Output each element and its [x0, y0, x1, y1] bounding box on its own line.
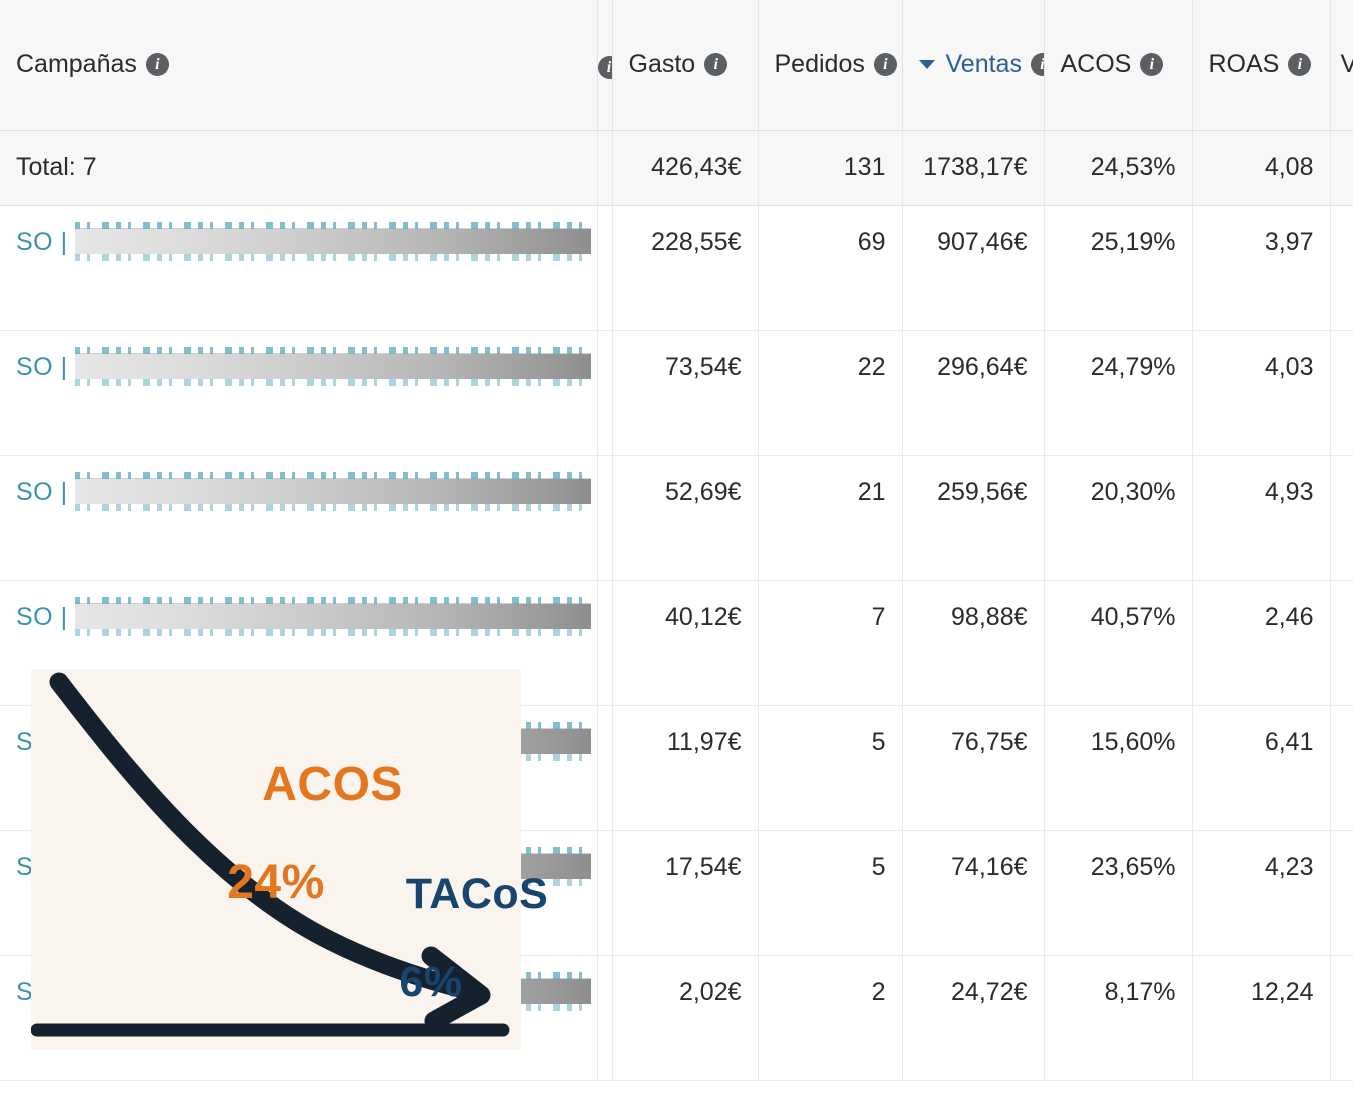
- campaign-name-cell[interactable]: SO |: [0, 330, 597, 455]
- cell-ventas: 76,75€: [902, 705, 1044, 830]
- cell-pedidos: 7: [758, 580, 902, 705]
- total-row-gasto: 426,43€: [612, 130, 758, 205]
- info-icon[interactable]: i: [1288, 53, 1311, 76]
- info-icon[interactable]: i: [598, 56, 613, 79]
- cell-gasto: 52,69€: [612, 455, 758, 580]
- cell-cutoff: [1330, 830, 1353, 955]
- campaign-prefix: SO |: [16, 480, 68, 505]
- sort-descending-caret-icon[interactable]: [919, 60, 935, 69]
- row-spacer: [597, 955, 612, 1080]
- info-icon[interactable]: i: [1031, 53, 1044, 76]
- tacos-annotation: TACoS 6%: [331, 829, 531, 1092]
- campaign-name-redacted-bar: [75, 478, 591, 504]
- total-row-roas: 4,08: [1192, 130, 1330, 205]
- campaign-name-redacted-bar: [75, 228, 591, 254]
- tacos-annotation-value: 6%: [331, 961, 531, 1005]
- cell-acos: 23,65%: [1044, 830, 1192, 955]
- cell-acos: 25,19%: [1044, 205, 1192, 330]
- cell-gasto: 17,54€: [612, 830, 758, 955]
- column-header-campanas-label: Campañas: [16, 52, 137, 77]
- campaign-prefix: SO |: [16, 230, 68, 255]
- total-row-acos: 24,53%: [1044, 130, 1192, 205]
- table-row[interactable]: SO | 228,55€ 69 907,46€ 25,19% 3,97: [0, 205, 1353, 330]
- column-header-gasto[interactable]: Gasto i: [612, 0, 758, 130]
- info-icon[interactable]: i: [146, 53, 169, 76]
- campaign-name-cell[interactable]: SO |: [0, 205, 597, 330]
- row-spacer: [597, 455, 612, 580]
- acos-annotation-title: ACOS: [262, 758, 403, 811]
- cell-gasto: 11,97€: [612, 705, 758, 830]
- column-header-spacer[interactable]: i: [597, 0, 612, 130]
- table-header: Campañas i i Gasto i Pedidos: [0, 0, 1353, 130]
- cell-acos: 20,30%: [1044, 455, 1192, 580]
- column-header-roas[interactable]: ROAS i: [1192, 0, 1330, 130]
- cell-pedidos: 22: [758, 330, 902, 455]
- cell-cutoff: [1330, 705, 1353, 830]
- cell-roas: 3,97: [1192, 205, 1330, 330]
- column-header-ventas-label: Ventas: [946, 52, 1022, 77]
- column-header-acos-label: ACOS: [1061, 52, 1132, 77]
- info-icon[interactable]: i: [874, 53, 897, 76]
- cell-acos: 8,17%: [1044, 955, 1192, 1080]
- cell-ventas: 296,64€: [902, 330, 1044, 455]
- header-row: Campañas i i Gasto i Pedidos: [0, 0, 1353, 130]
- column-header-cutoff-label: V: [1341, 50, 1353, 78]
- total-row-cutoff: [1330, 130, 1353, 205]
- column-header-pedidos[interactable]: Pedidos i: [758, 0, 902, 130]
- cell-cutoff: [1330, 580, 1353, 705]
- column-header-cutoff[interactable]: V: [1330, 0, 1353, 130]
- column-header-roas-label: ROAS: [1209, 52, 1280, 77]
- info-icon[interactable]: i: [704, 53, 727, 76]
- campaign-name-redacted-bar: [75, 353, 591, 379]
- info-icon[interactable]: i: [1140, 53, 1163, 76]
- campaign-prefix: SO |: [16, 355, 68, 380]
- total-row-ventas: 1738,17€: [902, 130, 1044, 205]
- tacos-annotation-title: TACoS: [406, 870, 549, 918]
- cell-acos: 40,57%: [1044, 580, 1192, 705]
- cell-pedidos: 69: [758, 205, 902, 330]
- cell-roas: 2,46: [1192, 580, 1330, 705]
- table-row[interactable]: SO | 73,54€ 22 296,64€ 24,79% 4,03: [0, 330, 1353, 455]
- cell-ventas: 74,16€: [902, 830, 1044, 955]
- row-spacer: [597, 830, 612, 955]
- total-row: Total: 7 426,43€ 131 1738,17€ 24,53% 4,0…: [0, 130, 1353, 205]
- cell-roas: 6,41: [1192, 705, 1330, 830]
- table-row[interactable]: SO | 52,69€ 21 259,56€ 20,30% 4,93: [0, 455, 1353, 580]
- campaign-name-cell[interactable]: SO |: [0, 455, 597, 580]
- campaign-prefix: SO |: [16, 605, 68, 630]
- cell-pedidos: 21: [758, 455, 902, 580]
- screenshot-root: Campañas i i Gasto i Pedidos: [0, 0, 1353, 1098]
- total-row-label: Total: 7: [0, 130, 597, 205]
- cell-pedidos: 2: [758, 955, 902, 1080]
- row-spacer: [597, 580, 612, 705]
- cell-roas: 12,24: [1192, 955, 1330, 1080]
- cell-ventas: 259,56€: [902, 455, 1044, 580]
- cell-cutoff: [1330, 455, 1353, 580]
- total-row-spacer: [597, 130, 612, 205]
- cell-pedidos: 5: [758, 830, 902, 955]
- cell-gasto: 2,02€: [612, 955, 758, 1080]
- cell-roas: 4,93: [1192, 455, 1330, 580]
- column-header-pedidos-label: Pedidos: [775, 52, 865, 77]
- column-header-ventas[interactable]: Ventas i: [902, 0, 1044, 130]
- cell-acos: 15,60%: [1044, 705, 1192, 830]
- cell-roas: 4,23: [1192, 830, 1330, 955]
- cell-ventas: 907,46€: [902, 205, 1044, 330]
- row-spacer: [597, 330, 612, 455]
- annotation-overlay: ACOS 24% TACoS 6%: [31, 669, 521, 1050]
- cell-gasto: 228,55€: [612, 205, 758, 330]
- cell-cutoff: [1330, 205, 1353, 330]
- row-spacer: [597, 205, 612, 330]
- row-spacer: [597, 705, 612, 830]
- column-header-gasto-label: Gasto: [629, 52, 696, 77]
- cell-ventas: 24,72€: [902, 955, 1044, 1080]
- total-row-pedidos: 131: [758, 130, 902, 205]
- column-header-campanas[interactable]: Campañas i: [0, 0, 597, 130]
- cell-roas: 4,03: [1192, 330, 1330, 455]
- cell-acos: 24,79%: [1044, 330, 1192, 455]
- campaign-name-redacted-bar: [75, 603, 591, 629]
- cell-cutoff: [1330, 955, 1353, 1080]
- column-header-acos[interactable]: ACOS i: [1044, 0, 1192, 130]
- cell-pedidos: 5: [758, 705, 902, 830]
- cell-cutoff: [1330, 330, 1353, 455]
- cell-gasto: 40,12€: [612, 580, 758, 705]
- cell-gasto: 73,54€: [612, 330, 758, 455]
- cell-ventas: 98,88€: [902, 580, 1044, 705]
